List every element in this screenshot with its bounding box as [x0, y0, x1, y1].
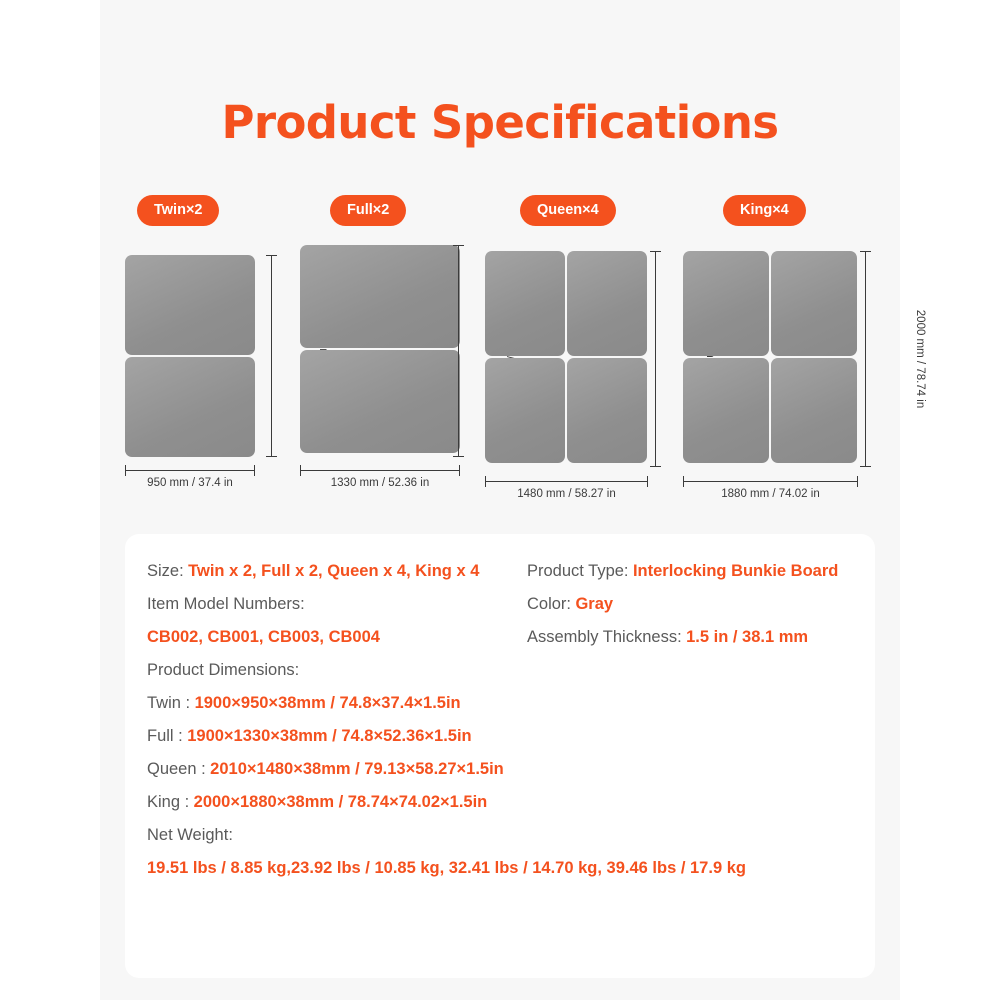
badge-twin: Twin×2 [137, 195, 219, 226]
width-label-queen: 1480 mm / 58.27 in [485, 488, 648, 500]
color-value: Gray [575, 595, 613, 613]
dimension-name-king: King : [147, 793, 189, 811]
board-panel [485, 358, 565, 463]
model-numbers-value: CB002, CB001, CB003, CB004 [147, 628, 380, 646]
spec-product-type: Product Type: Interlocking Bunkie Board [527, 562, 857, 581]
product-spec-page: Product Specifications Twin×2 1900 mm / … [0, 0, 1000, 1000]
board-panel [125, 255, 255, 355]
boards-twin [125, 255, 255, 457]
dimension-row-queen: Queen : 2010×1480×38mm / 79.13×58.27×1.5… [147, 760, 857, 779]
board-panel [771, 358, 857, 463]
spec-model-numbers-label-wrap: Item Model Numbers: [147, 595, 527, 614]
board-panel [683, 358, 769, 463]
net-weight-value: 19.51 lbs / 8.85 kg,23.92 lbs / 10.85 kg… [147, 859, 857, 878]
spec-model-numbers-value-wrap: CB002, CB001, CB003, CB004 [147, 628, 527, 647]
specifications-content: Size: Twin x 2, Full x 2, Queen x 4, Kin… [147, 562, 857, 878]
net-weight-label: Net Weight: [147, 826, 233, 844]
board-panel [771, 251, 857, 356]
dimension-row-twin: Twin : 1900×950×38mm / 74.8×37.4×1.5in [147, 694, 857, 713]
width-label-king: 1880 mm / 74.02 in [683, 488, 858, 500]
dimension-name-full: Full : [147, 727, 183, 745]
board-panel [300, 245, 460, 348]
height-label-king: 2000 mm / 78.74 in [914, 310, 926, 408]
board-panel [567, 358, 647, 463]
badge-full: Full×2 [330, 195, 406, 226]
boards-king [683, 251, 858, 463]
model-numbers-label: Item Model Numbers: [147, 595, 305, 613]
size-value: Twin x 2, Full x 2, Queen x 4, King x 4 [188, 562, 479, 580]
dimensions-label: Product Dimensions: [147, 661, 299, 679]
assembly-thickness-value: 1.5 in / 38.1 mm [686, 628, 808, 646]
product-type-label: Product Type: [527, 562, 629, 580]
dimension-value-queen: 2010×1480×38mm / 79.13×58.27×1.5in [210, 760, 504, 778]
size-diagram: Twin×2 1900 mm / 74.8 in 950 mm / 37.4 i… [100, 0, 900, 520]
specifications-card: Size: Twin x 2, Full x 2, Queen x 4, Kin… [125, 534, 875, 978]
spec-row-size-type: Size: Twin x 2, Full x 2, Queen x 4, Kin… [147, 562, 857, 581]
spec-row-model-color: Item Model Numbers: Color: Gray [147, 595, 857, 614]
badge-king: King×4 [723, 195, 806, 226]
dimension-row-king: King : 2000×1880×38mm / 78.74×74.02×1.5i… [147, 793, 857, 812]
spec-net-weight-label-wrap: Net Weight: [147, 826, 857, 845]
board-panel [485, 251, 565, 356]
board-panel [125, 357, 255, 457]
spec-assembly-thickness: Assembly Thickness: 1.5 in / 38.1 mm [527, 628, 857, 647]
boards-queen [485, 251, 648, 463]
dimension-name-twin: Twin : [147, 694, 190, 712]
spec-dimensions-label-wrap: Product Dimensions: [147, 661, 857, 680]
spec-size: Size: Twin x 2, Full x 2, Queen x 4, Kin… [147, 562, 527, 581]
size-label: Size: [147, 562, 184, 580]
board-panel [683, 251, 769, 356]
color-label: Color: [527, 595, 571, 613]
product-type-value: Interlocking Bunkie Board [633, 562, 838, 580]
width-label-twin: 950 mm / 37.4 in [125, 477, 255, 489]
dimension-row-full: Full : 1900×1330×38mm / 74.8×52.36×1.5in [147, 727, 857, 746]
board-panel [300, 350, 460, 453]
boards-full [300, 245, 460, 453]
assembly-thickness-label: Assembly Thickness: [527, 628, 682, 646]
dimension-value-twin: 1900×950×38mm / 74.8×37.4×1.5in [195, 694, 461, 712]
dimension-value-king: 2000×1880×38mm / 78.74×74.02×1.5in [194, 793, 488, 811]
width-label-full: 1330 mm / 52.36 in [300, 477, 460, 489]
spec-color: Color: Gray [527, 595, 857, 614]
dimension-value-full: 1900×1330×38mm / 74.8×52.36×1.5in [187, 727, 471, 745]
badge-queen: Queen×4 [520, 195, 616, 226]
dimension-name-queen: Queen : [147, 760, 206, 778]
spec-row-modelvalue-thickness: CB002, CB001, CB003, CB004 Assembly Thic… [147, 628, 857, 647]
board-panel [567, 251, 647, 356]
